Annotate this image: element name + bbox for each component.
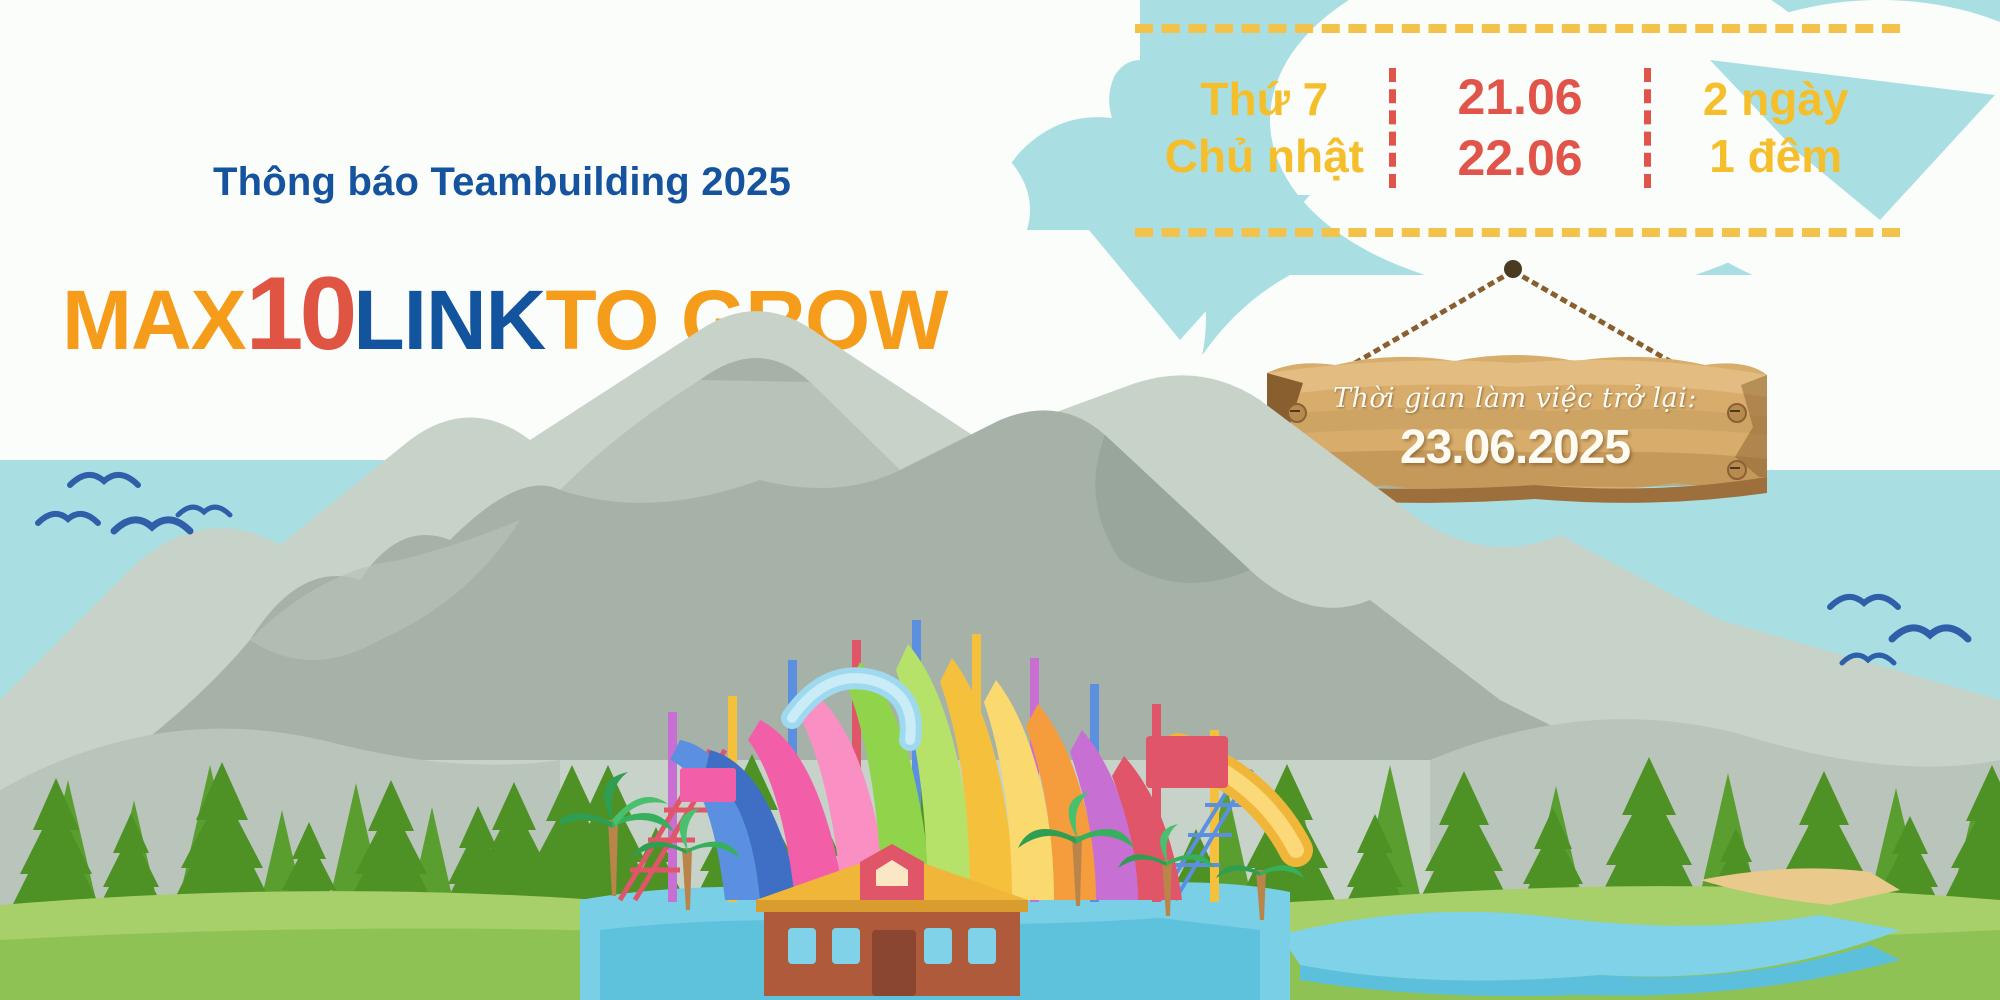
bird-icon	[178, 507, 230, 515]
bird-icon	[38, 514, 98, 523]
platform-panel-red	[1146, 736, 1228, 788]
birds-left-flock	[30, 455, 250, 590]
bird-icon	[1842, 655, 1894, 663]
teambuilding-announcement-banner: Thứ 7 Chủ nhật 21.06 22.06 2 ngày 1 đêm …	[0, 0, 2000, 1000]
bird-icon	[1830, 597, 1898, 607]
bird-icon	[70, 475, 138, 485]
platform-panel-pink	[680, 768, 736, 802]
water-park-structure	[560, 600, 1320, 1000]
bird-icon	[114, 520, 190, 531]
bird-icon	[1892, 628, 1968, 639]
birds-right-flock	[1820, 575, 1990, 685]
